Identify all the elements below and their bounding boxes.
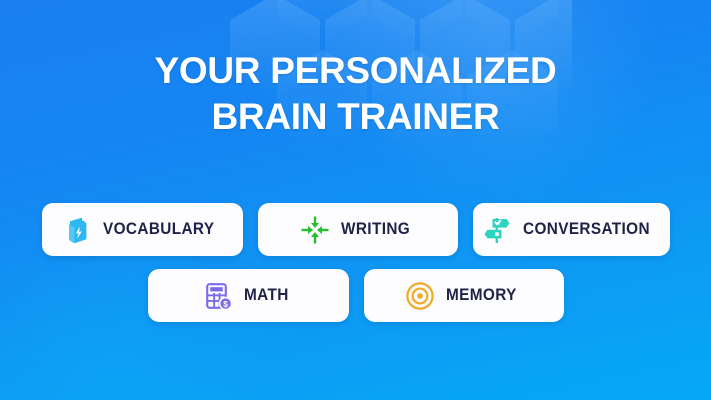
- svg-text:$: $: [224, 299, 229, 309]
- feature-pill-label: CONVERSATION: [523, 220, 650, 239]
- feature-pill-conversation[interactable]: CONVERSATION: [473, 203, 670, 256]
- feature-pill-label: MEMORY: [446, 286, 517, 305]
- converge-arrows-icon: [300, 215, 330, 245]
- calculator-coin-icon: $: [203, 281, 233, 311]
- feature-row-2: $ MATH MEMORY: [0, 269, 711, 322]
- feature-pill-groups: VOCABULARY WRITING: [0, 203, 711, 322]
- headline-line-2: BRAIN TRAINER: [0, 94, 711, 140]
- feature-row-1: VOCABULARY WRITING: [0, 203, 711, 256]
- feature-pill-label: VOCABULARY: [103, 220, 214, 239]
- signpost-icon: [482, 215, 512, 245]
- feature-pill-label: MATH: [244, 286, 289, 305]
- feature-pill-label: WRITING: [341, 220, 410, 239]
- feature-pill-memory[interactable]: MEMORY: [364, 269, 564, 322]
- target-icon: [405, 281, 435, 311]
- feature-pill-math[interactable]: $ MATH: [148, 269, 349, 322]
- promo-banner: YOUR PERSONALIZED BRAIN TRAINER VOCABULA…: [0, 0, 711, 400]
- page-title: YOUR PERSONALIZED BRAIN TRAINER: [0, 48, 711, 140]
- headline-line-1: YOUR PERSONALIZED: [155, 50, 557, 91]
- book-lightning-icon: [62, 215, 92, 245]
- feature-pill-writing[interactable]: WRITING: [258, 203, 458, 256]
- feature-pill-vocabulary[interactable]: VOCABULARY: [42, 203, 243, 256]
